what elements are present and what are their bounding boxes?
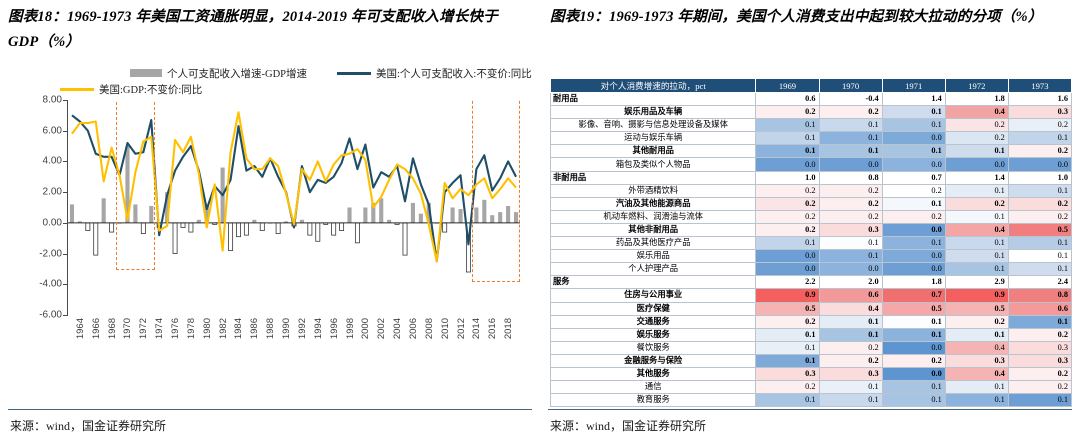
y-tick-label: 0.00 (43, 217, 62, 228)
table-cell: 0.0 (882, 132, 945, 145)
row-label: 外带酒精饮料 (551, 184, 756, 197)
table-cell: 0.3 (819, 367, 882, 380)
x-tick-label: 1990 (281, 318, 292, 339)
row-label: 通信 (551, 381, 756, 394)
table-cell: 0.1 (945, 145, 1008, 158)
highlight-2014-2019 (472, 100, 520, 282)
table-cell: 0.1 (882, 197, 945, 210)
table-cell: 0.1 (756, 237, 819, 250)
table-cell: 0.1 (1008, 315, 1071, 328)
table-cell: 2.9 (945, 276, 1008, 289)
table-cell: 0.2 (945, 315, 1008, 328)
row-label: 耐用品 (551, 93, 756, 106)
row-label: 非耐用品 (551, 171, 756, 184)
source-text-left: 来源：wind，国金证券研究所 (0, 417, 540, 434)
row-label: 交通服务 (551, 315, 756, 328)
table-cell: 1.8 (882, 276, 945, 289)
table-cell: 0.6 (756, 93, 819, 106)
y-tick-label: -6.00 (39, 310, 62, 321)
table-row: 非耐用品1.00.80.71.41.0 (551, 171, 1072, 184)
table-cell: 0.0 (882, 263, 945, 276)
table-cell: 0.2 (1008, 367, 1071, 380)
table-cell: 0.0 (756, 158, 819, 171)
table-row: 汽油及其他能源商品0.20.20.10.20.2 (551, 197, 1072, 210)
pce-contribution-table: 对个人消费增速的拉动，pct19691970197119721973 耐用品0.… (550, 78, 1072, 407)
row-label: 教育服务 (551, 394, 756, 407)
table-cell: 0.2 (756, 210, 819, 223)
table-cell: 0.4 (945, 367, 1008, 380)
bar-diff (244, 223, 248, 235)
table-row: 箱包及类似个人物品0.00.00.00.00.0 (551, 158, 1072, 171)
x-tick-label: 2006 (408, 318, 419, 339)
table-cell: 0.2 (756, 184, 819, 197)
x-tick-label: 2016 (487, 318, 498, 339)
figure-19-title: 图表19：1969-1973 年期间，美国个人消费支出中起到较大拉动的分项（%） (550, 5, 1070, 30)
table-cell: 0.2 (819, 354, 882, 367)
legend-item-line-dpi: 美国:个人可支配收入:不变价:同比 (337, 66, 532, 81)
bar-diff (458, 209, 462, 223)
row-label: 其他非耐用品 (551, 223, 756, 236)
x-tick-label: 1978 (186, 318, 197, 339)
x-tick-label: 2004 (392, 318, 403, 339)
table-cell: 0.0 (756, 263, 819, 276)
table-cell: 0.8 (1008, 289, 1071, 302)
table-cell: 0.1 (819, 328, 882, 341)
row-label: 娱乐用品 (551, 250, 756, 263)
table-cell: 0.0 (882, 367, 945, 380)
table-cell: 0.2 (1008, 210, 1071, 223)
x-tick-label: 2018 (503, 318, 514, 339)
table-cell: 0.0 (945, 158, 1008, 171)
table-cell: 0.1 (882, 237, 945, 250)
table-cell: 0.2 (756, 381, 819, 394)
table-cell: 0.2 (756, 223, 819, 236)
x-tick-label: 1970 (122, 318, 133, 339)
table-cell: 0.2 (945, 132, 1008, 145)
table-cell: 0.1 (756, 328, 819, 341)
x-tick-label: 2010 (440, 318, 451, 339)
table-row: 娱乐用品0.00.10.00.10.1 (551, 250, 1072, 263)
bar-diff (173, 223, 177, 254)
y-axis-labels: 8.006.004.002.000.00-2.00-4.00-6.00 (22, 100, 66, 315)
table-cell: 0.3 (1008, 354, 1071, 367)
legend-item-line-gdp: 美国:GDP:不变价:同比 (60, 82, 202, 97)
plot-box: 8.006.004.002.000.00-2.00-4.00-6.00 1964… (22, 100, 522, 360)
y-tick-label: 2.00 (43, 187, 62, 198)
table-cell: 0.3 (1008, 106, 1071, 119)
table-cell: 0.2 (819, 341, 882, 354)
row-label: 箱包及类似个人物品 (551, 158, 756, 171)
x-tick-label: 1974 (154, 318, 165, 339)
table-cell: 0.1 (819, 119, 882, 132)
table-cell: 0.1 (882, 119, 945, 132)
table-cell: 0.5 (945, 302, 1008, 315)
table-row: 餐饮服务0.10.20.00.40.3 (551, 341, 1072, 354)
table-cell: 0.9 (945, 289, 1008, 302)
pce-contribution-table-wrap: 对个人消费增速的拉动，pct19691970197119721973 耐用品0.… (550, 78, 1072, 407)
bar-diff (347, 208, 351, 223)
table-cell: 0.1 (882, 315, 945, 328)
figure-18-source: 来源：wind，国金证券研究所 (0, 409, 540, 434)
table-header-metric: 对个人消费增速的拉动，pct (551, 79, 756, 93)
figure-18-panel: 图表18：1969-1973 年美国工资通胀明显，2014-2019 年可支配收… (0, 0, 540, 438)
x-tick-label: 1998 (345, 318, 356, 339)
y-tick-label: -4.00 (39, 279, 62, 290)
bar-diff (419, 214, 423, 223)
table-header-row: 对个人消费增速的拉动，pct19691970197119721973 (551, 79, 1072, 93)
table-cell: 0.1 (882, 328, 945, 341)
table-cell: 0.1 (882, 106, 945, 119)
table-cell: 0.1 (819, 315, 882, 328)
table-cell: 0.1 (945, 263, 1008, 276)
bar-diff (451, 208, 455, 223)
row-label: 其他耐用品 (551, 145, 756, 158)
x-tick-label: 1986 (249, 318, 260, 339)
table-header-year-1972: 1972 (945, 79, 1008, 93)
legend-label-bar-series: 个人可支配收入增速-GDP增速 (167, 66, 307, 81)
table-cell: 0.2 (756, 106, 819, 119)
table-cell: 0.1 (756, 394, 819, 407)
table-body: 耐用品0.6-0.41.41.81.6娱乐用品及车辆0.20.20.10.40.… (551, 93, 1072, 407)
x-tick-label: 1994 (313, 318, 324, 339)
table-row: 耐用品0.6-0.41.41.81.6 (551, 93, 1072, 106)
table-cell: 0.3 (1008, 341, 1071, 354)
table-cell: 0.1 (1008, 250, 1071, 263)
x-axis-labels: 1964196619681970197219741976197819801982… (68, 318, 522, 378)
table-cell: 1.0 (756, 171, 819, 184)
table-cell: 0.1 (756, 341, 819, 354)
table-cell: 0.1 (819, 381, 882, 394)
x-tick-label: 2002 (376, 318, 387, 339)
table-cell: 0.2 (882, 184, 945, 197)
bar-diff (403, 223, 407, 255)
row-label: 其他服务 (551, 367, 756, 380)
bar-diff (443, 223, 447, 232)
table-cell: 0.1 (945, 381, 1008, 394)
y-tick-label: 6.00 (43, 125, 62, 136)
table-head: 对个人消费增速的拉动，pct19691970197119721973 (551, 79, 1072, 93)
table-cell: 0.1 (945, 394, 1008, 407)
table-cell: 0.1 (882, 381, 945, 394)
source-text-right: 来源：wind，国金证券研究所 (540, 417, 1080, 434)
legend-label-line-gdp: 美国:GDP:不变价:同比 (99, 82, 202, 97)
table-cell: 0.3 (756, 367, 819, 380)
table-row: 机动车燃料、润滑油与流体0.20.20.20.10.2 (551, 210, 1072, 223)
table-cell: 0.1 (1008, 132, 1071, 145)
table-header-year-1969: 1969 (756, 79, 819, 93)
table-cell: 0.3 (819, 223, 882, 236)
bar-diff (379, 198, 383, 223)
row-label: 住房与公用事业 (551, 289, 756, 302)
table-cell: 0.2 (756, 197, 819, 210)
table-row: 外带酒精饮料0.20.20.20.10.1 (551, 184, 1072, 197)
table-row: 教育服务0.10.10.10.10.1 (551, 394, 1072, 407)
table-row: 住房与公用事业0.90.60.70.90.8 (551, 289, 1072, 302)
table-cell: 0.2 (945, 119, 1008, 132)
table-cell: 0.2 (819, 106, 882, 119)
table-cell: 0.7 (882, 289, 945, 302)
table-cell: 0.4 (819, 302, 882, 315)
x-tick-label: 2008 (424, 318, 435, 339)
bar-diff (332, 223, 336, 235)
table-cell: 0.1 (819, 145, 882, 158)
y-tick-label: -2.00 (39, 248, 62, 259)
x-tick-label: 1992 (297, 318, 308, 339)
source-divider (548, 409, 1072, 410)
bar-diff (228, 223, 232, 251)
row-label: 医疗保健 (551, 302, 756, 315)
table-cell: 2.4 (1008, 276, 1071, 289)
y-tick-label: 8.00 (43, 95, 62, 106)
table-cell: 0.2 (1008, 119, 1071, 132)
bar-diff (181, 223, 185, 228)
table-row: 影像、音响、摄影与信息处理设备及媒体0.10.10.10.20.2 (551, 119, 1072, 132)
table-row: 运动与娱乐车辆0.10.10.00.20.1 (551, 132, 1072, 145)
row-label: 个人护理产品 (551, 263, 756, 276)
table-cell: 0.7 (882, 171, 945, 184)
table-cell: 0.5 (756, 302, 819, 315)
table-row: 通信0.20.10.10.10.2 (551, 381, 1072, 394)
income-gdp-chart: 个人可支配收入增速-GDP增速 美国:个人可支配收入:不变价:同比 美国:GDP… (0, 62, 540, 402)
table-cell: 0.8 (819, 171, 882, 184)
row-label: 药品及其他医疗产品 (551, 237, 756, 250)
table-cell: 0.0 (756, 250, 819, 263)
table-cell: 0.2 (945, 197, 1008, 210)
y-tick-mark (63, 315, 68, 316)
table-row: 药品及其他医疗产品0.10.10.10.10.1 (551, 237, 1072, 250)
table-cell: 0.2 (819, 184, 882, 197)
row-label: 汽油及其他能源商品 (551, 197, 756, 210)
table-row: 服务2.22.01.82.92.4 (551, 276, 1072, 289)
table-cell: 0.1 (882, 145, 945, 158)
bar-diff (189, 223, 193, 232)
bar-diff (102, 198, 106, 223)
table-cell: 0.2 (882, 210, 945, 223)
bar-diff (355, 223, 359, 243)
table-cell: 1.4 (945, 171, 1008, 184)
bar-diff (363, 208, 367, 223)
table-cell: 0.1 (756, 145, 819, 158)
row-label: 服务 (551, 276, 756, 289)
row-label: 影像、音响、摄影与信息处理设备及媒体 (551, 119, 756, 132)
x-tick-label: 2012 (456, 318, 467, 339)
table-cell: 0.1 (945, 184, 1008, 197)
table-cell: 0.1 (1008, 184, 1071, 197)
x-tick-label: 2000 (360, 318, 371, 339)
source-divider (8, 409, 532, 410)
table-cell: 2.0 (819, 276, 882, 289)
bar-diff (340, 223, 344, 231)
x-tick-label: 2014 (471, 318, 482, 339)
table-cell: 0.2 (819, 210, 882, 223)
table-header-year-1971: 1971 (882, 79, 945, 93)
bar-diff (411, 203, 415, 223)
table-cell: 1.6 (1008, 93, 1071, 106)
table-cell: 0.2 (1008, 328, 1071, 341)
table-cell: 0.6 (819, 289, 882, 302)
table-cell: 1.8 (945, 93, 1008, 106)
bar-diff (94, 223, 98, 255)
table-cell: 0.3 (945, 354, 1008, 367)
table-cell: 0.1 (1008, 394, 1071, 407)
line-gdp-swatch-icon (60, 88, 94, 91)
table-cell: 0.2 (882, 354, 945, 367)
x-tick-label: 1984 (233, 318, 244, 339)
table-cell: 0.1 (819, 394, 882, 407)
table-cell: 0.9 (756, 289, 819, 302)
x-tick-label: 1976 (170, 318, 181, 339)
bar-swatch-icon (130, 69, 162, 77)
table-row: 其他非耐用品0.20.30.00.40.5 (551, 223, 1072, 236)
bar-diff (110, 223, 114, 232)
table-row: 其他耐用品0.10.10.10.10.2 (551, 145, 1072, 158)
table-row: 医疗保健0.50.40.50.50.6 (551, 302, 1072, 315)
table-row: 个人护理产品0.00.00.00.10.1 (551, 263, 1072, 276)
table-cell: 0.1 (756, 354, 819, 367)
table-cell: 0.1 (819, 132, 882, 145)
x-tick-label: 1982 (218, 318, 229, 339)
table-cell: 0.1 (945, 210, 1008, 223)
bar-diff (276, 223, 280, 234)
table-cell: 0.2 (1008, 145, 1071, 158)
table-cell: 0.0 (819, 158, 882, 171)
y-tick-label: 4.00 (43, 156, 62, 167)
table-row: 娱乐用品及车辆0.20.20.10.40.3 (551, 106, 1072, 119)
table-cell: 0.0 (1008, 158, 1071, 171)
table-cell: 0.6 (1008, 302, 1071, 315)
x-tick-label: 1964 (75, 318, 86, 339)
figure-19-source: 来源：wind，国金证券研究所 (540, 409, 1080, 434)
table-cell: 0.0 (882, 158, 945, 171)
table-cell: 0.5 (882, 302, 945, 315)
table-cell: 0.2 (1008, 381, 1071, 394)
table-row: 其他服务0.30.30.00.40.2 (551, 367, 1072, 380)
table-cell: 0.4 (945, 106, 1008, 119)
legend-label-line-dpi: 美国:个人可支配收入:不变价:同比 (376, 66, 532, 81)
table-cell: 1.4 (882, 93, 945, 106)
highlight-1969-1973 (116, 100, 156, 270)
x-tick-label: 1980 (202, 318, 213, 339)
table-cell: -0.4 (819, 93, 882, 106)
x-tick-label: 1988 (265, 318, 276, 339)
table-cell: 0.1 (882, 394, 945, 407)
table-cell: 0.1 (945, 237, 1008, 250)
table-cell: 0.1 (1008, 263, 1071, 276)
table-cell: 0.4 (945, 223, 1008, 236)
table-cell: 0.1 (819, 237, 882, 250)
table-cell: 0.0 (819, 263, 882, 276)
row-label: 餐饮服务 (551, 341, 756, 354)
table-row: 交通服务0.20.10.10.20.1 (551, 315, 1072, 328)
table-cell: 0.2 (756, 315, 819, 328)
table-cell: 2.2 (756, 276, 819, 289)
table-cell: 0.1 (1008, 237, 1071, 250)
bar-diff (316, 223, 320, 241)
table-cell: 0.1 (756, 119, 819, 132)
plot-canvas (68, 100, 520, 315)
table-header-year-1970: 1970 (819, 79, 882, 93)
x-tick-label: 1966 (91, 318, 102, 339)
row-label: 金融服务与保险 (551, 354, 756, 367)
bar-diff (260, 223, 264, 231)
table-cell: 0.1 (945, 328, 1008, 341)
table-cell: 0.4 (945, 341, 1008, 354)
table-cell: 0.0 (882, 250, 945, 263)
bar-diff (86, 223, 90, 231)
figure-19-panel: 图表19：1969-1973 年期间，美国个人消费支出中起到较大拉动的分项（%）… (540, 0, 1080, 438)
table-cell: 0.0 (882, 223, 945, 236)
table-cell: 0.0 (882, 341, 945, 354)
table-cell: 0.1 (819, 250, 882, 263)
x-tick-label: 1972 (138, 318, 149, 339)
table-cell: 0.1 (756, 132, 819, 145)
table-cell: 0.1 (945, 250, 1008, 263)
bar-diff (308, 223, 312, 235)
row-label: 机动车燃料、润滑油与流体 (551, 210, 756, 223)
table-cell: 0.2 (819, 197, 882, 210)
x-tick-label: 1968 (107, 318, 118, 339)
figure-18-title: 图表18：1969-1973 年美国工资通胀明显，2014-2019 年可支配收… (8, 5, 528, 55)
chart-legend: 个人可支配收入增速-GDP增速 美国:个人可支配收入:不变价:同比 美国:GDP… (30, 65, 530, 97)
table-row: 娱乐服务0.10.10.10.10.2 (551, 328, 1072, 341)
row-label: 运动与娱乐车辆 (551, 132, 756, 145)
x-tick-label: 1996 (329, 318, 340, 339)
bar-diff (236, 223, 240, 237)
row-label: 娱乐用品及车辆 (551, 106, 756, 119)
legend-item-bar-series: 个人可支配收入增速-GDP增速 (130, 66, 307, 81)
table-header-year-1973: 1973 (1008, 79, 1071, 93)
table-cell: 0.2 (1008, 197, 1071, 210)
bar-diff (70, 204, 74, 222)
table-cell: 1.0 (1008, 171, 1071, 184)
row-label: 娱乐服务 (551, 328, 756, 341)
line-dpi-swatch-icon (337, 72, 371, 75)
table-cell: 0.5 (1008, 223, 1071, 236)
table-row: 金融服务与保险0.10.20.20.30.3 (551, 354, 1072, 367)
